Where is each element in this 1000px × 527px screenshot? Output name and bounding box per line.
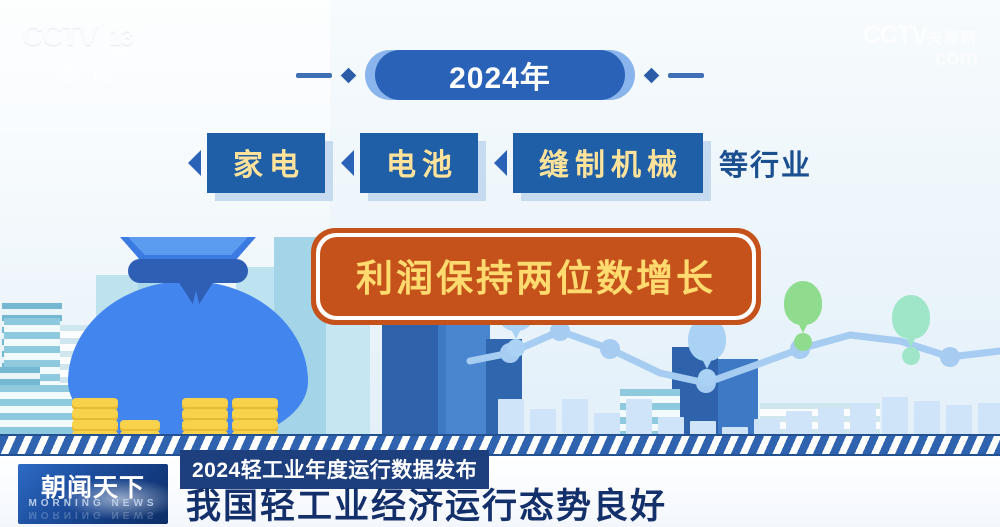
channel-logo-watermark: CCTV13 新闻 [22, 22, 152, 84]
deco-line-left-icon [296, 73, 332, 78]
money-bag-illustration [58, 223, 318, 443]
industry-tag-battery: 电池 [341, 133, 478, 193]
year-badge-label: 2024年 [375, 50, 625, 100]
profit-banner: 利润保持两位数增长 [311, 228, 761, 325]
watermark-brand: CCTV [863, 21, 927, 49]
channel-logo-name: CCTV [22, 20, 97, 52]
chart-marker-balloon [892, 295, 930, 339]
industry-tag-label: 电池 [360, 133, 478, 193]
striped-divider [0, 434, 1000, 456]
deco-line-right-icon [668, 73, 704, 78]
program-logo-en-reflection: MORNING NEWS [18, 509, 168, 520]
tag-arrow-icon [494, 150, 507, 176]
chart-marker-balloon [784, 281, 822, 325]
industry-tag-label: 家电 [207, 133, 325, 193]
tag-arrow-icon [188, 150, 201, 176]
program-logo: 朝闻天下 MORNING NEWS MORNING NEWS [18, 464, 168, 524]
channel-logo-number: 13 [100, 24, 142, 51]
industry-tag-sewing-machinery: 缝制机械 [494, 133, 703, 193]
watermark-cn: 央视网 [927, 30, 978, 47]
profit-banner-label: 利润保持两位数增长 [320, 237, 752, 316]
watermark-domain: com [863, 48, 978, 70]
program-logo-en: MORNING NEWS [18, 498, 168, 509]
deco-diamond-left-icon [341, 67, 357, 83]
deco-diamond-right-icon [644, 67, 660, 83]
channel-logo-rule [22, 53, 144, 55]
industry-tag-row: 家电 电池 缝制机械 等行业 [0, 132, 1000, 194]
industry-tag-label: 缝制机械 [513, 133, 703, 193]
broadcast-screenshot: 2024年 家电 电池 缝制机械 等行业 [0, 0, 1000, 527]
tag-arrow-icon [341, 150, 354, 176]
money-bag-collar-top [128, 237, 248, 255]
year-badge: 2024年 [365, 50, 635, 100]
industry-suffix-label: 等行业 [719, 142, 812, 184]
channel-logo-cn: 新闻 [22, 58, 152, 87]
lower-third-headline: 我国轻工业经济运行态势良好 [186, 478, 667, 527]
cctv-com-watermark: CCTV央视网 com [863, 22, 978, 70]
industry-tag-home-appliance: 家电 [188, 133, 325, 193]
